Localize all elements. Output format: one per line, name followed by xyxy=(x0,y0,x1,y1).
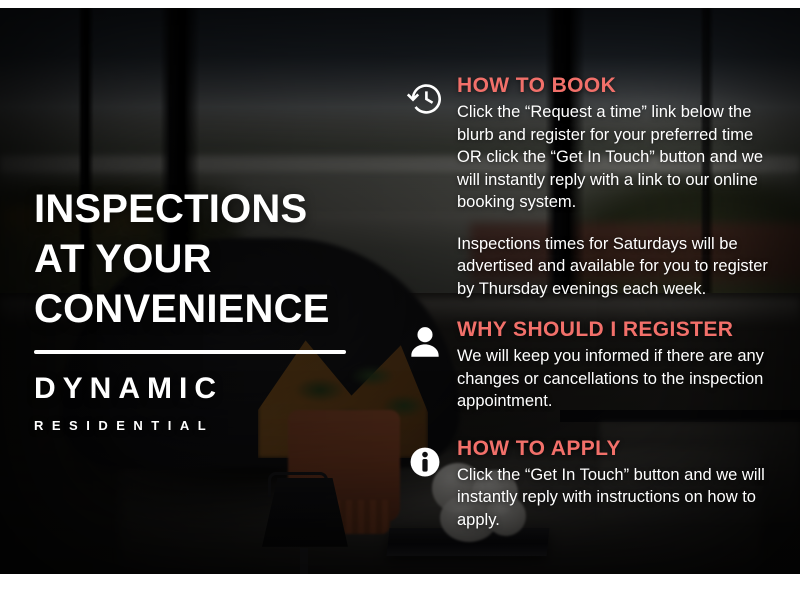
headline-line-3: CONVENIENCE xyxy=(34,284,384,334)
poster-canvas: INSPECTIONS AT YOUR CONVENIENCE DYNAMIC … xyxy=(0,8,800,574)
page-title: INSPECTIONS AT YOUR CONVENIENCE xyxy=(34,184,384,334)
info-sections: HOW TO BOOK Click the “Request a time” l… xyxy=(400,74,782,531)
poster-content: INSPECTIONS AT YOUR CONVENIENCE DYNAMIC … xyxy=(0,8,800,574)
brand-subtitle: RESIDENTIAL xyxy=(34,418,384,433)
section-how-to-apply: HOW TO APPLY Click the “Get In Touch” bu… xyxy=(400,437,782,532)
info-circle-icon xyxy=(404,441,446,483)
section-paragraph: Click the “Request a time” link below th… xyxy=(457,101,782,214)
person-icon xyxy=(404,322,446,364)
brand-name: DYNAMIC xyxy=(34,372,384,406)
headline-block: INSPECTIONS AT YOUR CONVENIENCE DYNAMIC … xyxy=(34,184,384,433)
brand-divider xyxy=(34,350,346,354)
inspection-poster: INSPECTIONS AT YOUR CONVENIENCE DYNAMIC … xyxy=(0,0,800,600)
section-how-to-book: HOW TO BOOK Click the “Request a time” l… xyxy=(400,74,782,300)
history-clock-icon xyxy=(404,78,446,120)
headline-line-1: INSPECTIONS xyxy=(34,184,384,234)
section-title: WHY SHOULD I REGISTER xyxy=(457,318,782,342)
section-paragraph: We will keep you informed if there are a… xyxy=(457,345,782,413)
section-why-should-i-register: WHY SHOULD I REGISTER We will keep you i… xyxy=(400,318,782,413)
section-paragraph: Inspections times for Saturdays will be … xyxy=(457,233,782,301)
section-paragraph: Click the “Get In Touch” button and we w… xyxy=(457,464,782,532)
section-title: HOW TO BOOK xyxy=(457,74,782,98)
section-title: HOW TO APPLY xyxy=(457,437,782,461)
headline-line-2: AT YOUR xyxy=(34,234,384,284)
